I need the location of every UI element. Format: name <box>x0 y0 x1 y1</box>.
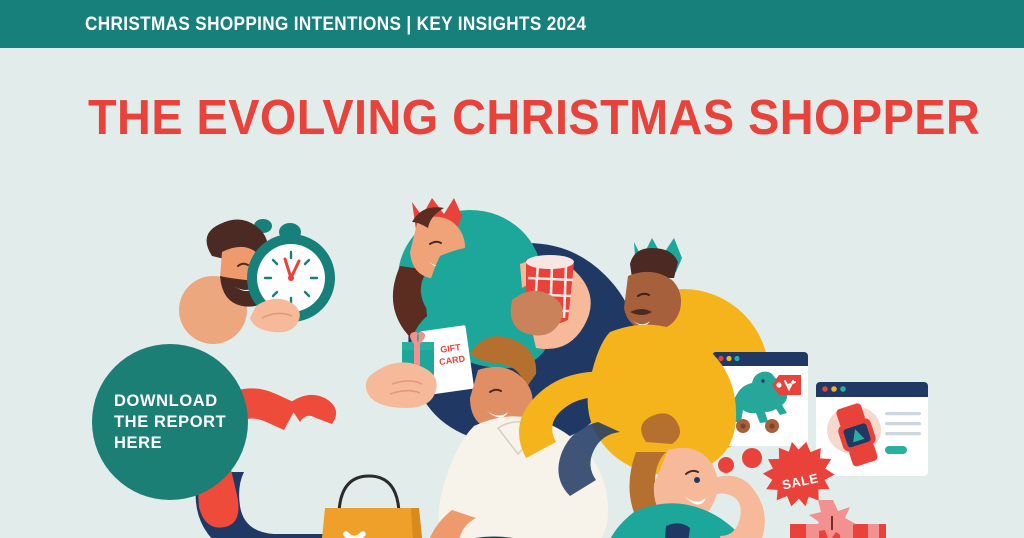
product-line-3 <box>885 432 921 435</box>
download-report-cta[interactable]: DOWNLOAD THE REPORT HERE <box>92 344 248 500</box>
header-bar: CHRISTMAS SHOPPING INTENTIONS | KEY INSI… <box>0 0 1024 48</box>
gift-box-stack <box>770 500 892 538</box>
browser-dot-yellow-icon <box>726 356 731 361</box>
thought-dot-red-medium-icon <box>718 457 734 473</box>
product-line-1 <box>885 412 921 415</box>
page-title: THE EVOLVING CHRISTMAS SHOPPER <box>88 90 980 146</box>
browser-dot-red-icon <box>718 356 723 361</box>
product-line-2 <box>885 422 921 425</box>
header-title: CHRISTMAS SHOPPING INTENTIONS | KEY INSI… <box>85 13 586 36</box>
cta-line-2: THE REPORT <box>92 412 226 433</box>
browser-dot-red-icon <box>822 386 828 392</box>
bag-side <box>411 508 433 538</box>
christmas-shopping-banner: CHRISTMAS SHOPPING INTENTIONS | KEY INSI… <box>0 0 1024 538</box>
thought-dot-red-large-icon <box>742 448 762 468</box>
shopping-bag <box>311 476 433 538</box>
cta-line-3: HERE <box>92 433 162 454</box>
hand-holding-card <box>366 362 437 408</box>
browser-dot-green-icon <box>840 386 846 392</box>
crown-man-face <box>624 272 681 330</box>
browser-dot-green-icon <box>734 356 739 361</box>
cta-line-1: DOWNLOAD <box>92 391 218 412</box>
bag-handle <box>339 476 399 512</box>
browser-dot-yellow-icon <box>831 386 837 392</box>
man-arm-right <box>288 395 336 424</box>
product-buy-button <box>885 446 907 454</box>
browser-window-watch[interactable] <box>816 382 928 476</box>
